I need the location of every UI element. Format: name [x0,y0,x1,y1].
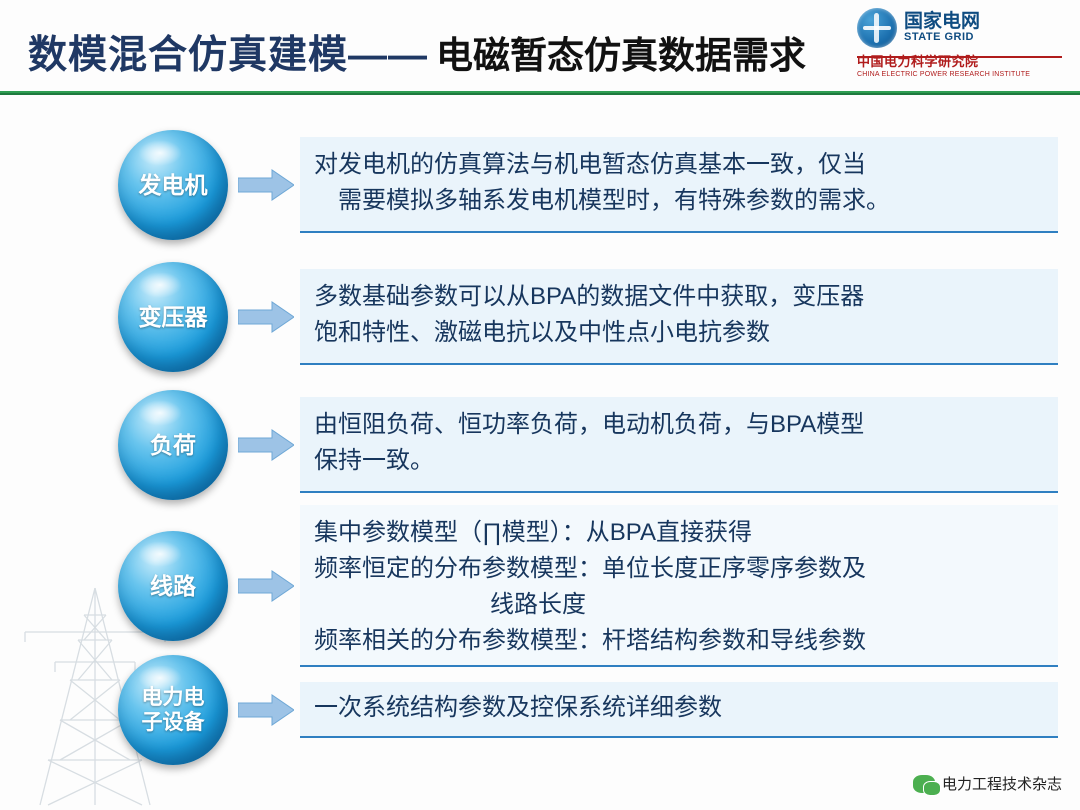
node-load[interactable]: 负荷 [118,390,228,500]
wechat-icon [913,775,935,793]
panel-load-line-2: 保持一致。 [314,443,1044,479]
node-transformer-label: 变压器 [139,303,208,331]
logo-divider [857,56,1062,58]
logo-company-cn: 国家电网 [904,12,980,31]
arrow-icon [238,693,294,727]
panel-line-line-1: 集中参数模型（∏模型）：从BPA直接获得 [314,515,1044,551]
panel-transformer: 多数基础参数可以从BPA的数据文件中获取，变压器 饱和特性、激磁电抗以及中性点小… [300,269,1058,365]
page-title-sub: 电磁暂态仿真数据需求 [436,25,806,79]
row-generator: 发电机 对发电机的仿真算法与机电暂态仿真基本一致，仅当 需要模拟多轴系发电机模型… [118,130,1058,240]
arrow-icon [238,168,294,202]
header-divider-highlight [0,91,1080,93]
logo-company-en: STATE GRID [904,31,980,44]
row-transformer: 变压器 多数基础参数可以从BPA的数据文件中获取，变压器 饱和特性、激磁电抗以及… [118,262,1058,372]
node-line[interactable]: 线路 [118,531,228,641]
panel-line: 集中参数模型（∏模型）：从BPA直接获得 频率恒定的分布参数模型：单位长度正序零… [300,505,1058,667]
slide: 数模混合仿真建模—— 电磁暂态仿真数据需求 国家电网 STATE GRID 中国… [0,0,1080,810]
node-generator-label: 发电机 [139,171,208,199]
panel-line-line-3: 线路长度 [314,587,1044,623]
node-power-electronics-label: 电力电 子设备 [142,685,205,735]
footer-wechat: 电力工程技术杂志 [913,773,1062,794]
logo-top-row: 国家电网 STATE GRID [857,8,980,48]
node-power-electronics[interactable]: 电力电 子设备 [118,655,228,765]
panel-generator: 对发电机的仿真算法与机电暂态仿真基本一致，仅当 需要模拟多轴系发电机模型时，有特… [300,137,1058,233]
state-grid-logo: 国家电网 STATE GRID 中国电力科学研究院 CHINA ELECTRIC… [857,8,1062,82]
node-generator[interactable]: 发电机 [118,130,228,240]
panel-power-electronics-line-1: 一次系统结构参数及控保系统详细参数 [314,690,1044,726]
logo-institute-en: CHINA ELECTRIC POWER RESEARCH INSTITUTE [857,71,1030,78]
logo-institute-cn: 中国电力科学研究院 [857,51,979,70]
row-power-electronics: 电力电 子设备 一次系统结构参数及控保系统详细参数 [118,655,1058,765]
panel-generator-line-2: 需要模拟多轴系发电机模型时，有特殊参数的需求。 [314,183,1044,219]
node-load-label: 负荷 [150,431,196,459]
panel-generator-line-1: 对发电机的仿真算法与机电暂态仿真基本一致，仅当 [314,147,1044,183]
panel-transformer-line-2: 饱和特性、激磁电抗以及中性点小电抗参数 [314,315,1044,351]
row-load: 负荷 由恒阻负荷、恒功率负荷，电动机负荷，与BPA模型 保持一致。 [118,390,1058,500]
globe-icon [857,8,897,48]
panel-line-line-2: 频率恒定的分布参数模型：单位长度正序零序参数及 [314,551,1044,587]
panel-power-electronics: 一次系统结构参数及控保系统详细参数 [300,682,1058,738]
footer-wechat-label: 电力工程技术杂志 [942,773,1062,794]
content-rows: 发电机 对发电机的仿真算法与机电暂态仿真基本一致，仅当 需要模拟多轴系发电机模型… [0,100,1080,780]
arrow-icon [238,300,294,334]
panel-transformer-line-1: 多数基础参数可以从BPA的数据文件中获取，变压器 [314,279,1044,315]
panel-load: 由恒阻负荷、恒功率负荷，电动机负荷，与BPA模型 保持一致。 [300,397,1058,493]
slide-header: 数模混合仿真建模—— 电磁暂态仿真数据需求 国家电网 STATE GRID 中国… [0,0,1080,92]
arrow-icon [238,428,294,462]
node-line-label: 线路 [150,572,196,600]
row-line: 线路 集中参数模型（∏模型）：从BPA直接获得 频率恒定的分布参数模型：单位长度… [118,505,1058,667]
node-transformer[interactable]: 变压器 [118,262,228,372]
page-title-main: 数模混合仿真建模—— [28,24,428,80]
panel-line-line-4: 频率相关的分布参数模型：杆塔结构参数和导线参数 [314,623,1044,659]
panel-load-line-1: 由恒阻负荷、恒功率负荷，电动机负荷，与BPA模型 [314,407,1044,443]
page-title: 数模混合仿真建模—— 电磁暂态仿真数据需求 [28,24,806,80]
header-divider [0,91,1080,95]
arrow-icon [238,569,294,603]
